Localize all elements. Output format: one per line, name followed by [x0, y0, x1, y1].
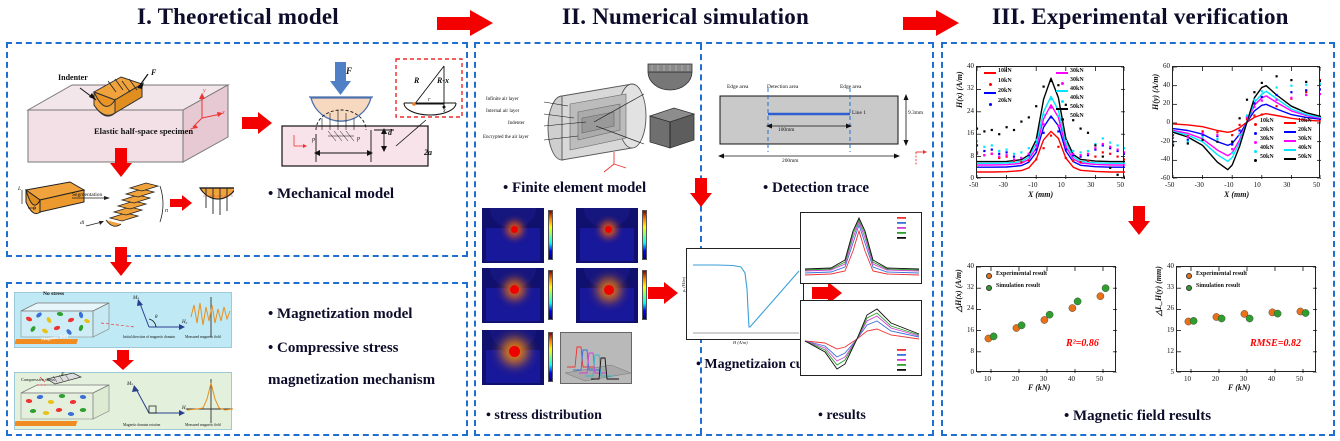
x-tick: 30 — [1240, 375, 1247, 383]
colorbar-4 — [642, 270, 647, 320]
vector-h0-label-top: H₀ — [182, 320, 187, 325]
legend-label: 30kN — [1260, 136, 1274, 142]
bullet-results: • results — [818, 408, 866, 424]
vector-h0-label-bottom: H₀ — [182, 406, 187, 411]
legend-label: 30kN — [1070, 68, 1084, 74]
stress-thumb-5 — [482, 330, 544, 385]
flow-arrow-down-2-icon — [110, 247, 132, 277]
stress-thumb-3 — [482, 268, 544, 323]
fem-label-infinite-air: Infinite air layer — [486, 97, 518, 102]
y-tick: 16 — [960, 326, 974, 334]
legend-dot-swatch — [1254, 132, 1257, 135]
trace-height-label: 9.3mm — [908, 110, 923, 116]
legend-label: 10kN — [1260, 118, 1274, 124]
contact-force-label: F — [346, 66, 352, 76]
legend-label: Simulation result — [1196, 283, 1240, 289]
legend-line-swatch — [1056, 72, 1068, 74]
legend-label: 20kN — [998, 98, 1012, 104]
y-tick: -60 — [1156, 174, 1170, 182]
y-tick: 5 — [1160, 368, 1174, 376]
indenter-label: Indenter — [58, 73, 88, 82]
y-tick: 20 — [1156, 99, 1170, 107]
angle-theta-label: θ — [155, 315, 157, 320]
x-tick: -30 — [1195, 181, 1204, 189]
dlhy-xlabel: F (kN) — [1228, 383, 1250, 392]
y-tick: 60 — [1156, 62, 1170, 70]
bullet-magnetization-mechanism: magnetization mechanism — [268, 372, 435, 389]
bullet-mechanical-model: • Mechanical model — [268, 186, 394, 203]
legend-label: 30kN — [1070, 77, 1084, 83]
flow-arrow-down-panel2-icon — [690, 178, 712, 208]
y-tick: -40 — [1156, 155, 1170, 163]
legend-label: 20kN — [998, 88, 1012, 94]
legend-label: Simulation result — [996, 283, 1040, 289]
colorbar-5 — [548, 332, 553, 382]
section-title-theoretical: I. Theoretical model — [137, 4, 339, 30]
legend-label: 20kN — [1260, 127, 1274, 133]
flow-arrow-down-1-icon — [110, 148, 132, 178]
legend-label: 40kN — [1070, 86, 1084, 92]
result-mini-plot-hy — [800, 300, 922, 376]
bullet-magnetization-model: • Magnetization model — [268, 306, 412, 323]
segmentation-label: Segmentation — [72, 192, 102, 198]
stress-thumb-2 — [576, 208, 638, 263]
y-tick: 19 — [1160, 326, 1174, 334]
legend-dot-swatch — [1061, 118, 1064, 121]
trace-line1-label: Line 1 — [852, 110, 866, 116]
y-tick: 8 — [960, 152, 974, 160]
stress-thumb-1 — [482, 208, 544, 263]
section-title-experimental: III. Experimental verification — [992, 4, 1289, 30]
stress-state-label: Compressive stress — [21, 377, 55, 382]
axis-y-label: y — [203, 88, 206, 94]
legend-line-swatch — [1284, 140, 1296, 142]
dhx-annotation-r2: R²=0.86 — [1066, 338, 1099, 349]
x-tick: 10 — [1058, 181, 1065, 189]
legend-line-swatch — [984, 92, 996, 94]
flow-arrow-down-panel3-icon — [1128, 206, 1150, 238]
stress-field-caption: Measured magnetic field — [185, 423, 221, 427]
dlhy-annotation-rmse: RMSE=0.82 — [1250, 338, 1301, 349]
mag-curve-xlabel: H (A/m) — [733, 340, 748, 345]
legend-dot-swatch — [1254, 123, 1257, 126]
y-tick: 40 — [960, 262, 974, 270]
y-tick: 16 — [960, 129, 974, 137]
x-tick: -10 — [1028, 181, 1037, 189]
flow-arrow-down-3-icon — [112, 350, 134, 372]
x-tick: -30 — [999, 181, 1008, 189]
legend-marker — [1186, 285, 1192, 291]
colorbar-1 — [548, 210, 553, 260]
x-tick: 20 — [1212, 375, 1219, 383]
y-tick: 24 — [960, 107, 974, 115]
waterfall-plot-thumb — [560, 332, 632, 384]
panel2-divider — [700, 44, 702, 434]
figure-root: I. Theoretical model II. Numerical simul… — [0, 0, 1340, 441]
legend-label: 50kN — [1260, 154, 1274, 160]
legend-marker — [986, 273, 992, 279]
y-tick: -20 — [1156, 137, 1170, 145]
indent-depth-label: d — [388, 128, 392, 137]
trace-detection-label: Detection area — [767, 84, 798, 90]
y-tick: 33 — [1160, 283, 1174, 291]
x-tick: 50 — [1296, 375, 1303, 383]
x-tick: 40 — [1068, 375, 1075, 383]
specimen-label: Elastic half-space specimen — [94, 126, 193, 136]
x-tick: 50 — [1096, 375, 1103, 383]
fem-label-indenter: Indenter — [508, 121, 525, 126]
dhx-xlabel: F (kN) — [1028, 383, 1050, 392]
legend-line-swatch — [984, 72, 996, 74]
pressure-right-label: p — [357, 136, 360, 142]
stress-thumb-4 — [576, 268, 638, 323]
legend-dot-swatch — [989, 103, 992, 106]
trace-edge-left-label: Edge area — [727, 84, 748, 90]
legend-marker — [986, 285, 992, 291]
legend-label: 40kN — [1070, 95, 1084, 101]
y-tick: 26 — [1160, 304, 1174, 312]
magnetization-curve-plot — [686, 248, 804, 340]
y-tick: 0 — [1156, 118, 1170, 126]
L-label: L — [18, 186, 21, 192]
fem-label-internal-air: Internal air layer — [486, 109, 519, 114]
colorbar-2 — [642, 210, 647, 260]
x-tick: 30 — [1087, 181, 1094, 189]
dlhy-plot-area — [1176, 266, 1316, 372]
x-tick: 20 — [1012, 375, 1019, 383]
y-tick: 0 — [960, 174, 974, 182]
stress-band-caption: Magnetic domain rotation — [123, 423, 160, 427]
magnetization-stress-panel: Compressive stress F Magnetic domain rot… — [14, 372, 232, 430]
x-tick: -50 — [1165, 181, 1174, 189]
nostress-band-caption: Initial direction of magnetic domain — [123, 335, 175, 339]
flow-arrow-right-contact-icon — [242, 112, 275, 134]
y-tick: 0 — [960, 368, 974, 376]
result-mini-plot-hx — [800, 212, 922, 284]
legend-dot-swatch — [1061, 100, 1064, 103]
flow-arrow-2-icon — [903, 10, 959, 36]
trace-edge-right-label: Edge area — [840, 84, 861, 90]
x-tick: 50 — [1117, 181, 1124, 189]
legend-dot-swatch — [1254, 159, 1257, 162]
x-tick: -10 — [1224, 181, 1233, 189]
n-label: n — [165, 208, 168, 214]
legend-line-swatch — [1284, 158, 1296, 160]
legend-label: 10kN — [998, 78, 1012, 84]
y-tick: 8 — [960, 347, 974, 355]
fem-model-icon — [482, 56, 697, 178]
theta-label: θ — [33, 206, 36, 212]
fem-label-encrypted-air: Encrypted the air layer — [483, 135, 529, 140]
inset-x-label: x — [443, 108, 446, 114]
x-tick: 50 — [1313, 181, 1320, 189]
legend-line-swatch — [1056, 108, 1068, 110]
y-tick: 32 — [960, 283, 974, 291]
magnetization-nostress-panel: No stress Initial direction of magnetic … — [14, 292, 232, 348]
x-tick: 10 — [1254, 181, 1261, 189]
y-tick: 32 — [960, 84, 974, 92]
x-tick: 40 — [1268, 375, 1275, 383]
x-tick: 30 — [1283, 181, 1290, 189]
bullet-compressive-stress: • Compressive stress — [268, 340, 399, 357]
legend-line-swatch — [1056, 90, 1068, 92]
legend-label: 40kN — [1298, 145, 1312, 151]
colorbar-3 — [548, 270, 553, 320]
bullet-stress-distribution: • stress distribution — [486, 408, 602, 424]
y-tick: 12 — [1160, 347, 1174, 355]
legend-dot-swatch — [1061, 82, 1064, 85]
nostress-state-label: No stress — [43, 291, 64, 297]
legend-label: 10kN — [998, 68, 1012, 74]
legend-dot-swatch — [1254, 150, 1257, 153]
stress-force-label: F — [61, 373, 64, 378]
legend-label: 20kN — [1298, 127, 1312, 133]
nostress-field-caption: Measured magnetic field — [185, 335, 221, 339]
x-tick: 30 — [1040, 375, 1047, 383]
legend-label: Experimental result — [1196, 271, 1247, 277]
dl-label: dl — [80, 220, 84, 226]
legend-label: 50kN — [1298, 154, 1312, 160]
y-tick: 40 — [1156, 81, 1170, 89]
hx-xlabel: X (mm) — [1028, 190, 1053, 199]
legend-marker — [1186, 273, 1192, 279]
trace-inner-length-label: 100mm — [778, 127, 794, 133]
y-tick: 24 — [960, 304, 974, 312]
force-label-f: F — [151, 68, 156, 77]
y-tick: 40 — [960, 62, 974, 70]
hy-xlabel: X (mm) — [1224, 190, 1249, 199]
section-title-numerical: II. Numerical simulation — [562, 4, 809, 30]
y-tick: 40 — [1160, 262, 1174, 270]
bullet-finite-element-model: • Finite element model — [503, 180, 646, 197]
bullet-detection-trace: • Detection trace — [763, 180, 869, 197]
trace-total-length-label: 200mm — [782, 158, 798, 164]
mag-curve-ylabel: μᵣ (H/m) — [681, 277, 686, 292]
dhx-plot-area — [976, 266, 1116, 372]
inset-r-label: r — [428, 97, 430, 103]
segmentation-icon — [14, 178, 234, 240]
axis-x-label: x — [222, 110, 225, 116]
flow-arrow-1-icon — [437, 10, 493, 36]
x-tick: -50 — [969, 181, 978, 189]
vector-ms-label-top: Mₛ — [133, 295, 139, 301]
legend-label: 50kN — [1070, 104, 1084, 110]
x-tick: 10 — [984, 375, 991, 383]
legend-label: 30kN — [1298, 136, 1312, 142]
pressure-left-label: p — [312, 137, 315, 143]
inset-R-label: R — [414, 76, 419, 85]
legend-dot-swatch — [989, 83, 992, 86]
legend-dot-swatch — [1254, 141, 1257, 144]
legend-label: 10kN — [1298, 118, 1312, 124]
bullet-magnetic-field-results: • Magnetic field results — [1064, 408, 1211, 425]
legend-line-swatch — [1284, 149, 1296, 151]
legend-label: Experimental result — [996, 271, 1047, 277]
flow-arrow-to-mag-curve-icon — [648, 282, 680, 304]
legend-label: 40kN — [1260, 145, 1274, 151]
legend-line-swatch — [1284, 131, 1296, 133]
detection-trace-icon — [712, 78, 927, 174]
legend-line-swatch — [1284, 122, 1296, 124]
x-tick: 10 — [1184, 375, 1191, 383]
vector-ms-label-bottom: Mₛ — [127, 381, 133, 387]
legend-label: 50kN — [1070, 113, 1084, 119]
contact-width-label: 2a — [424, 148, 432, 157]
inset-Rx-label: R-x — [437, 76, 449, 85]
